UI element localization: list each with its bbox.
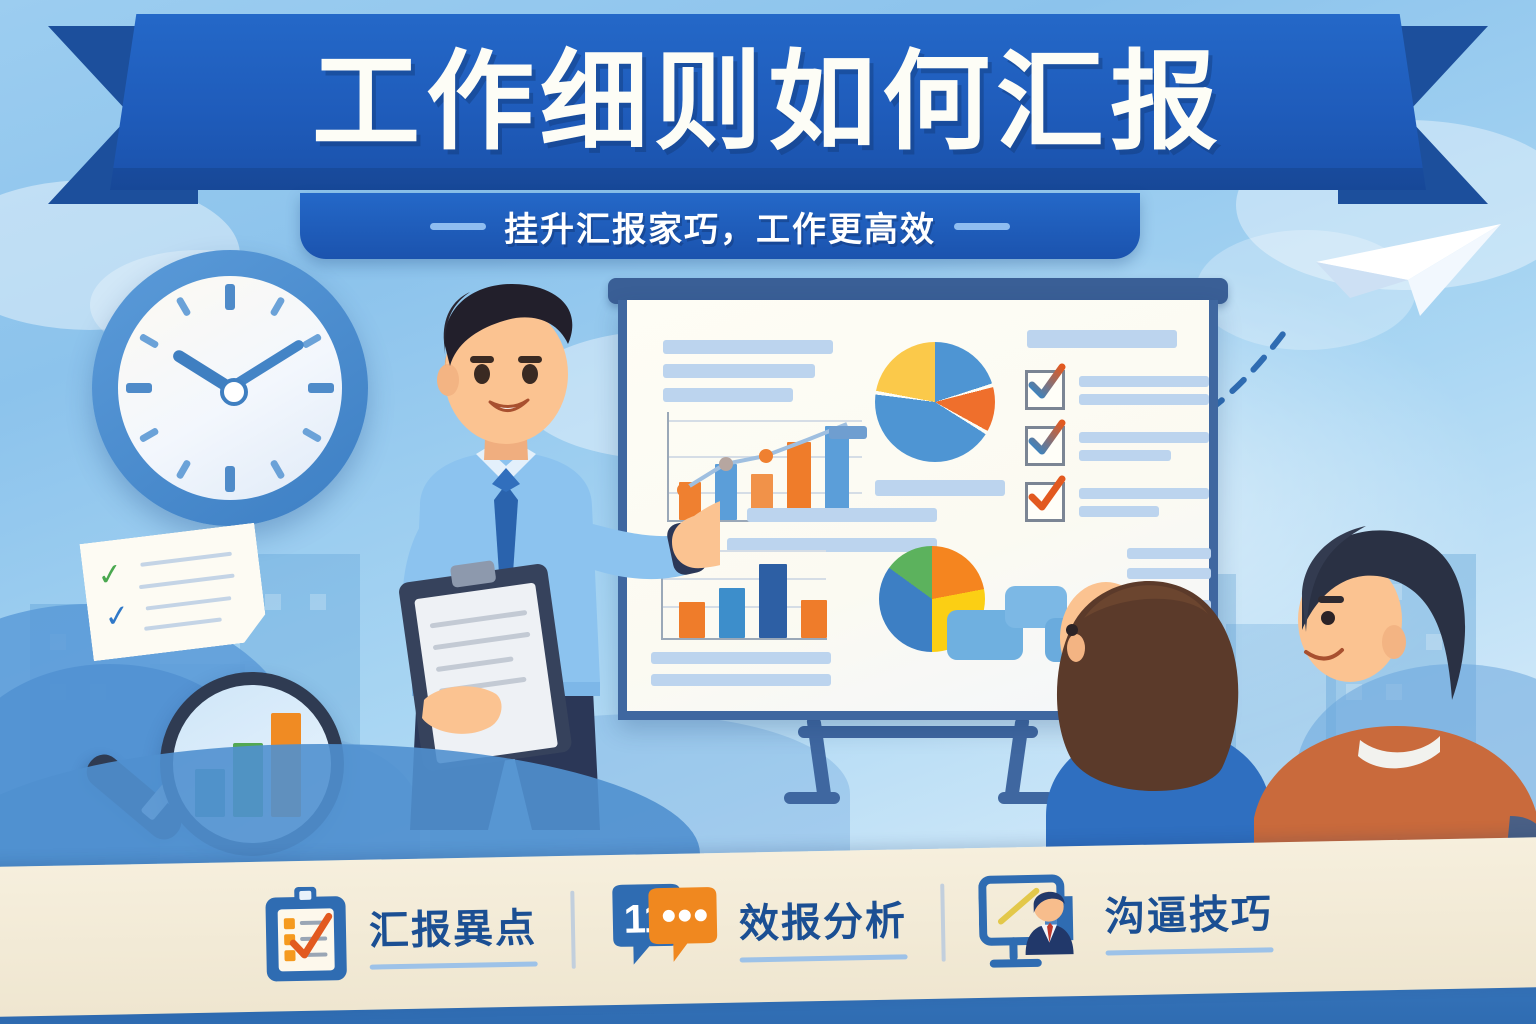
footer-item-communication-skills[interactable]: 沟逼技巧 [944,868,1308,971]
presenter-board-icon [978,872,1086,970]
page-title: 工作细则如何汇报 [110,14,1426,190]
subtitle-dash-left [430,223,486,230]
footer-item-underline [740,954,908,962]
footer-item-underline [370,961,538,969]
footer-item-data-analysis[interactable]: 11 效报分析 [574,877,942,976]
subtitle-dash-right [954,223,1010,230]
footer-item-label: 效报分析 [738,888,907,949]
speech-bubbles-icon: 11 [608,881,720,975]
clock-center-pin [220,378,248,406]
poster-root: ✓ ✓ [0,0,1536,1024]
subtitle-banner: 挂升汇报家巧，工作更高效 [300,193,1140,259]
clipboard-checklist-icon [262,886,350,984]
board-pie-chart-top [875,342,995,462]
checklist-note-icon: ✓ ✓ [79,523,268,662]
page-title-text: 工作细则如何汇报 [312,48,1224,156]
subtitle-text: 挂升汇报家巧，工作更高效 [504,202,936,251]
footer-item-label: 沟逼技巧 [1104,881,1273,942]
footer-item-label: 汇报異点 [368,895,537,956]
footer-item-underline [1106,947,1274,955]
footer-item-report-points[interactable]: 汇报異点 [228,882,572,985]
